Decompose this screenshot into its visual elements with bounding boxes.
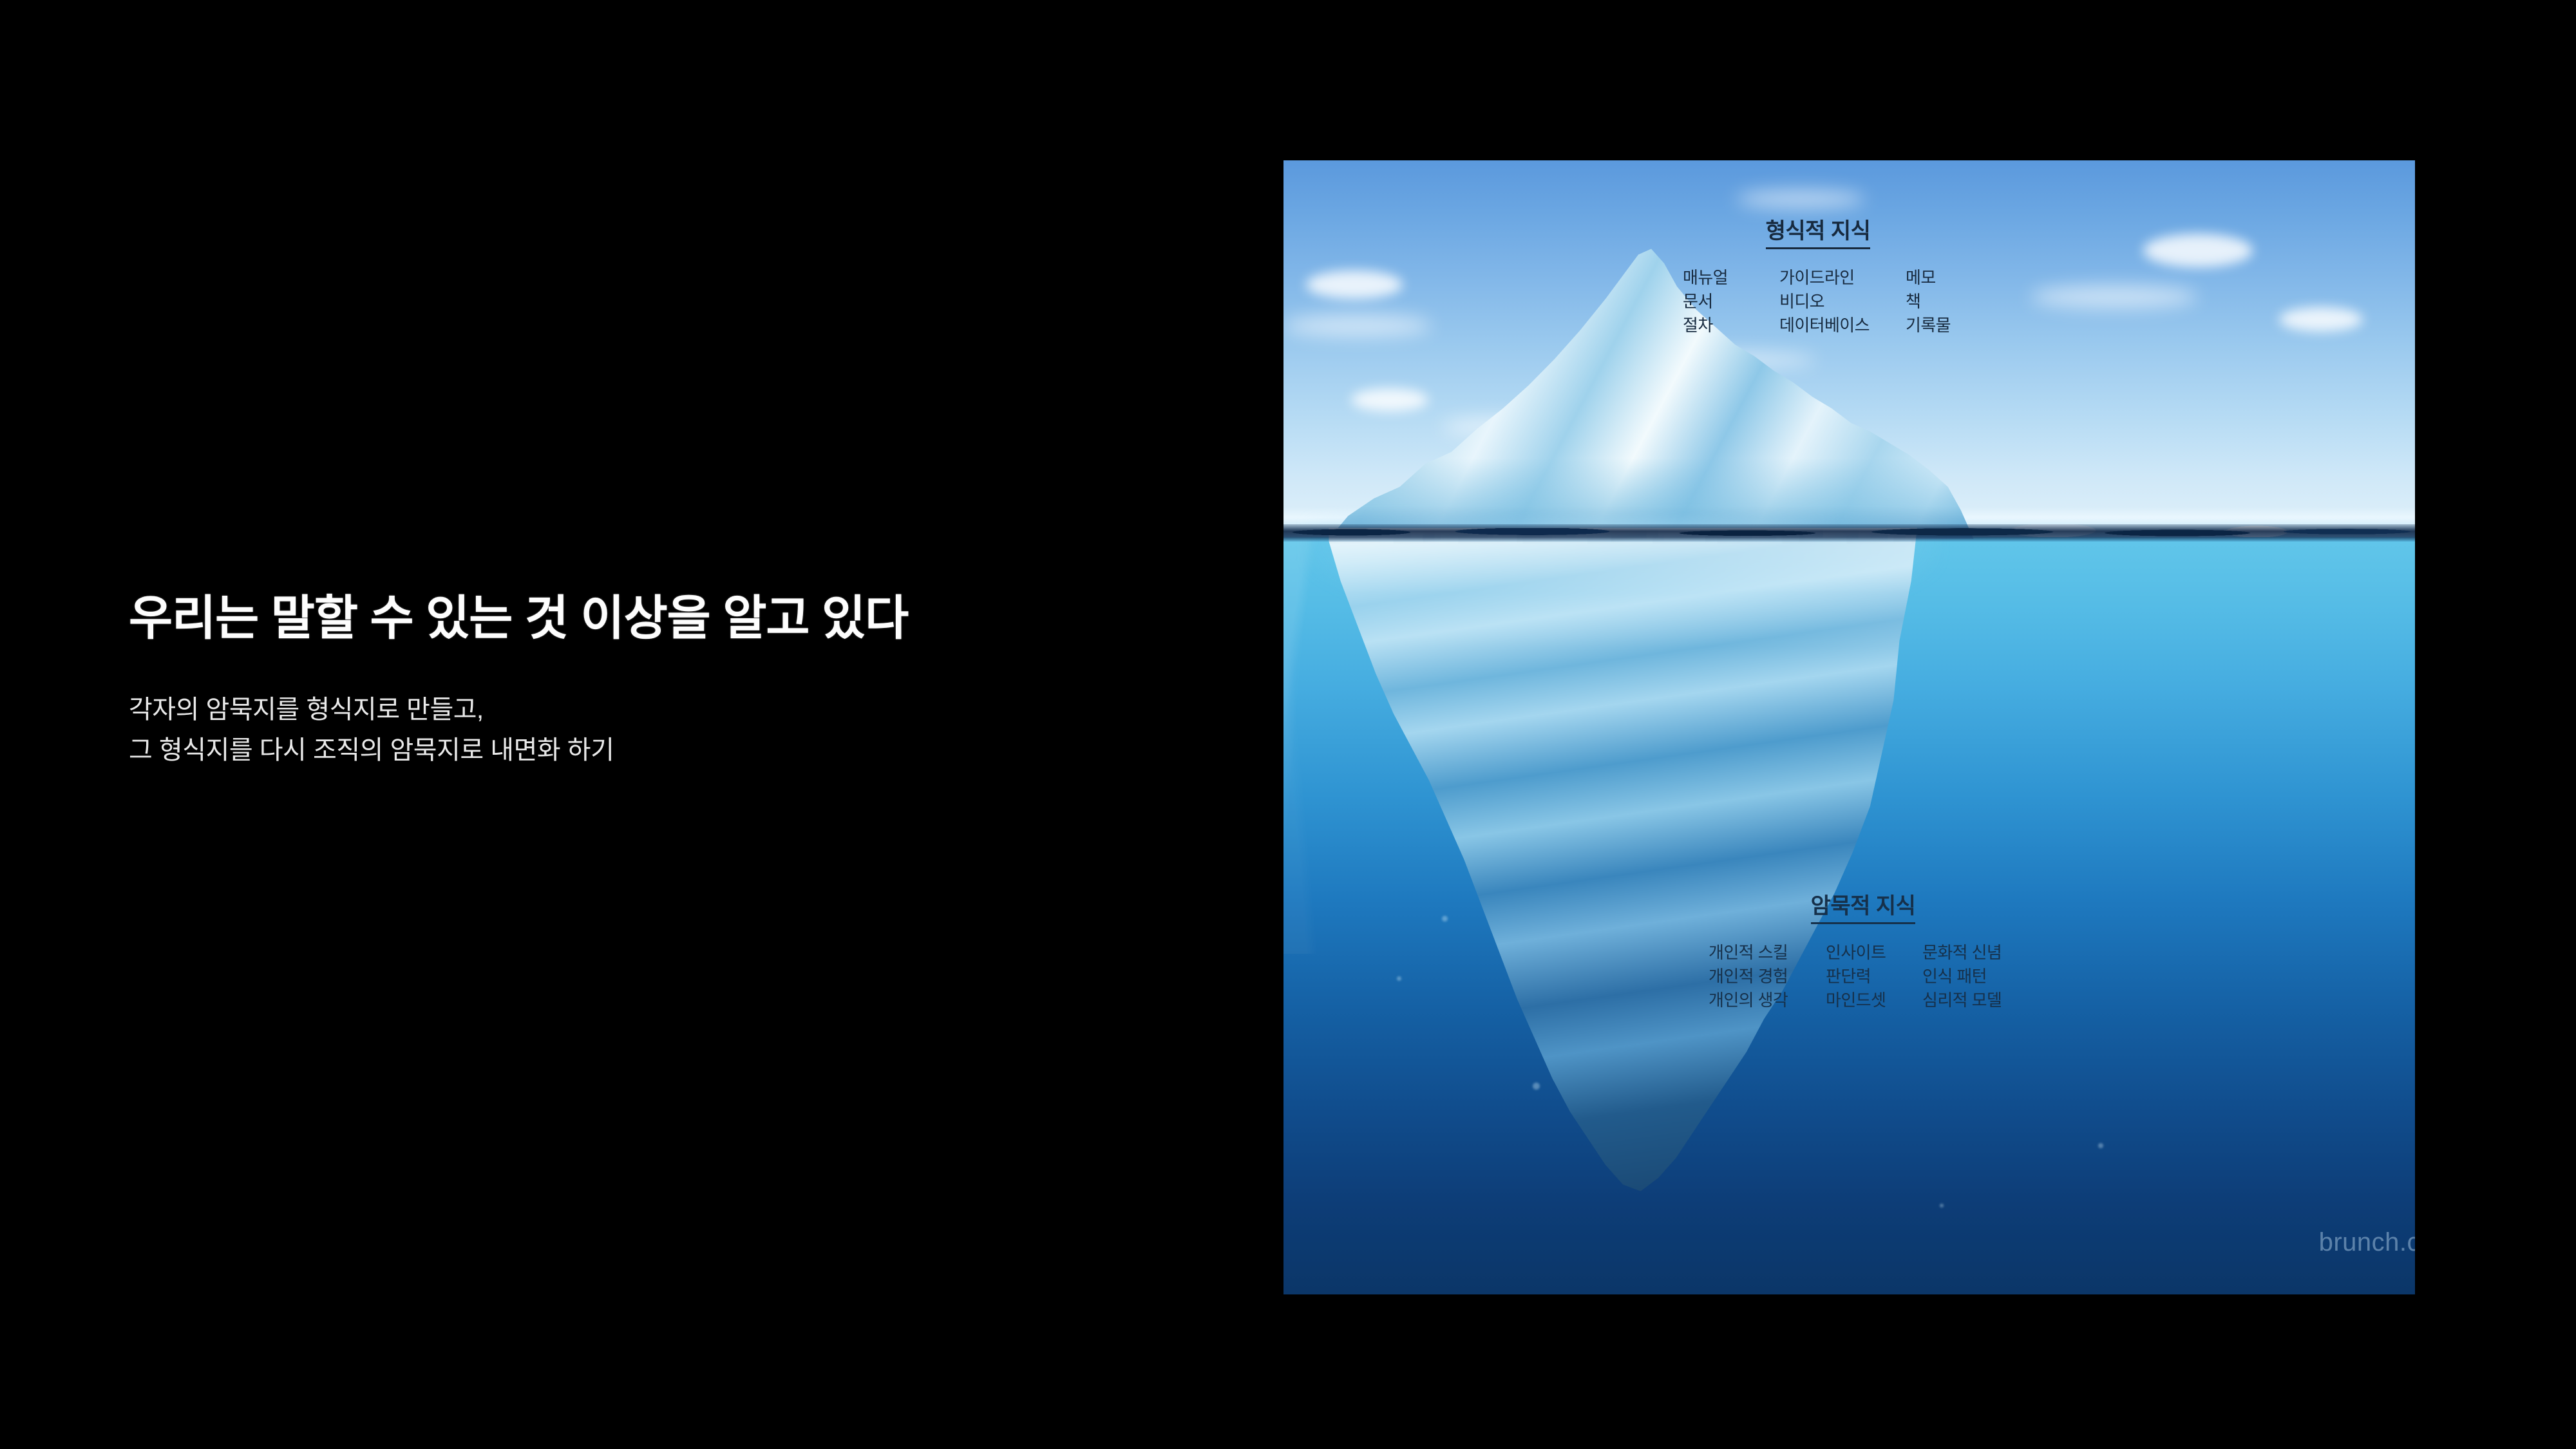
waterline xyxy=(1283,524,2415,541)
slide-text-block: 우리는 말할 수 있는 것 이상을 알고 있다 각자의 암묵지를 형식지로 만들… xyxy=(129,589,1224,772)
label-item: 마인드셋 xyxy=(1826,989,1922,1012)
label-item: 문서 xyxy=(1683,290,1779,314)
label-item: 메모 xyxy=(1906,266,1983,290)
explicit-knowledge-column: 매뉴얼 문서 절차 xyxy=(1683,266,1779,337)
watermark: brunch.c xyxy=(2319,1228,2415,1257)
label-item: 판단력 xyxy=(1826,965,1922,989)
bubble-icon xyxy=(1940,1204,1944,1207)
cloud-icon xyxy=(1736,190,1865,208)
cloud-icon xyxy=(2279,307,2363,332)
cloud-icon xyxy=(1351,388,1428,412)
subtitle-line-1: 각자의 암묵지를 형식지로 만들고, xyxy=(129,690,1224,730)
tacit-knowledge-column: 문화적 신념 인식 패턴 심리적 모델 xyxy=(1922,941,2045,1012)
label-item: 심리적 모델 xyxy=(1922,989,2045,1012)
subtitle-line-2: 그 형식지를 다시 조직의 암묵지로 내면화 하기 xyxy=(129,730,1224,771)
label-item: 매뉴얼 xyxy=(1683,266,1779,290)
label-item: 기록물 xyxy=(1906,314,1983,337)
cloud-icon xyxy=(2143,234,2253,267)
slide-subtitle: 각자의 암묵지를 형식지로 만들고, 그 형식지를 다시 조직의 암묵지로 내면… xyxy=(129,690,1224,771)
explicit-knowledge-labels: 형식적 지식 매뉴얼 문서 절차 가이드라인 비디오 데이터베이스 메모 책 기… xyxy=(1683,213,1983,337)
label-item: 가이드라인 xyxy=(1779,266,1906,290)
iceberg-image: 형식적 지식 매뉴얼 문서 절차 가이드라인 비디오 데이터베이스 메모 책 기… xyxy=(1283,160,2415,1294)
explicit-knowledge-heading: 형식적 지식 xyxy=(1766,213,1871,249)
label-item: 책 xyxy=(1906,290,1983,314)
label-item: 인사이트 xyxy=(1826,941,1922,965)
label-item: 개인적 경험 xyxy=(1709,965,1826,989)
bubble-icon xyxy=(1533,1083,1540,1090)
bubble-icon xyxy=(2098,1143,2103,1148)
label-item: 비디오 xyxy=(1779,290,1906,314)
explicit-knowledge-column: 가이드라인 비디오 데이터베이스 xyxy=(1779,266,1906,337)
label-item: 문화적 신념 xyxy=(1922,941,2045,965)
tacit-knowledge-column: 인사이트 판단력 마인드셋 xyxy=(1826,941,1922,1012)
tacit-knowledge-column: 개인적 스킬 개인적 경험 개인의 생각 xyxy=(1709,941,1826,1012)
explicit-knowledge-column: 메모 책 기록물 xyxy=(1906,266,1983,337)
cloud-icon xyxy=(2031,285,2198,308)
cloud-icon xyxy=(1306,270,1403,299)
bubble-icon xyxy=(1397,976,1401,981)
label-item: 개인의 생각 xyxy=(1709,989,1826,1012)
label-item: 인식 패턴 xyxy=(1922,965,2045,989)
label-item: 개인적 스킬 xyxy=(1709,941,1826,965)
page-title: 우리는 말할 수 있는 것 이상을 알고 있다 xyxy=(129,589,1224,647)
tacit-knowledge-labels: 암묵적 지식 개인적 스킬 개인적 경험 개인의 생각 인사이트 판단력 마인드… xyxy=(1709,888,2045,1012)
tacit-knowledge-heading: 암묵적 지식 xyxy=(1811,888,1916,924)
label-item: 절차 xyxy=(1683,314,1779,337)
bubble-icon xyxy=(1442,916,1448,922)
cloud-icon xyxy=(1283,315,1432,337)
label-item: 데이터베이스 xyxy=(1779,314,1906,337)
